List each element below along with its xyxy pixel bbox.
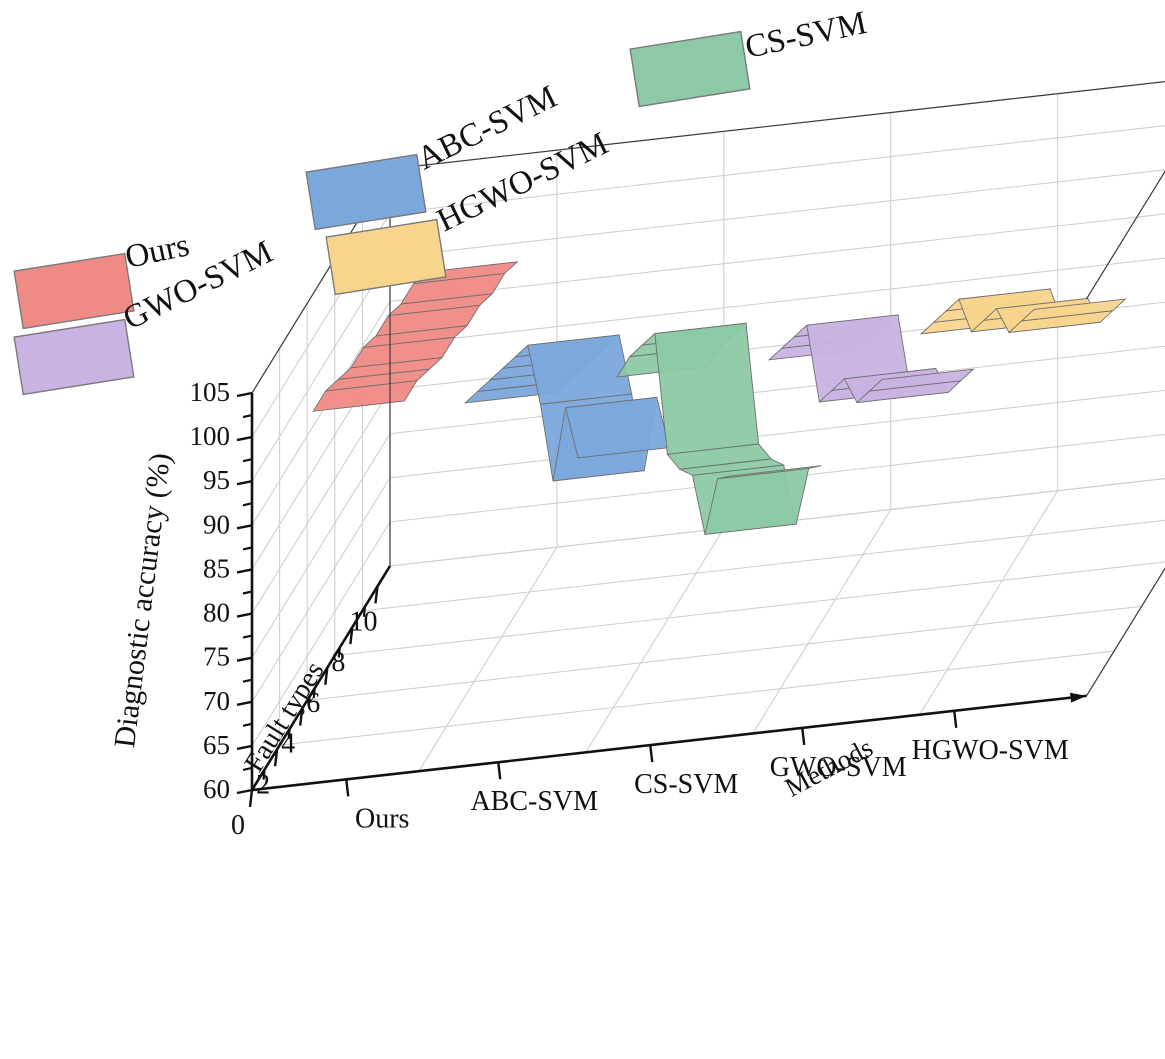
- legend-swatch: [14, 254, 134, 329]
- z-minor-tick: [243, 547, 252, 549]
- z-tick-label: 80: [203, 598, 230, 628]
- method-tick: [802, 728, 804, 745]
- z-minor-tick: [243, 724, 252, 726]
- z-tick-label: 95: [203, 465, 230, 495]
- z-tick: [237, 569, 252, 572]
- legend-label: Ours: [122, 227, 192, 276]
- z-tick-label: 65: [203, 730, 230, 760]
- ribbon-facet: [566, 397, 670, 457]
- method-tick-label: ABC-SVM: [470, 786, 598, 817]
- z-tick-label: 60: [203, 774, 230, 804]
- z-minor-tick: [243, 459, 252, 461]
- z-minor-tick: [243, 680, 252, 682]
- chart-canvas: 6065707580859095100105Diagnostic accurac…: [0, 0, 1165, 1059]
- z-tick: [237, 393, 252, 396]
- z-tick: [237, 658, 252, 661]
- ribbon-facet: [528, 335, 632, 404]
- figure-root: 6065707580859095100105Diagnostic accurac…: [0, 0, 1165, 1059]
- z-tick: [237, 790, 252, 793]
- ribbon-layer: [313, 262, 1125, 535]
- z-minor-tick: [243, 636, 252, 638]
- ribbon-hgwo-svm: [921, 289, 1125, 334]
- method-tick-label: Ours: [355, 803, 409, 834]
- method-tick-label: CS-SVM: [634, 769, 738, 800]
- z-tick-label: 70: [203, 686, 230, 716]
- legend-swatch: [14, 320, 134, 395]
- z-minor-tick: [243, 592, 252, 594]
- z-tick-label: 100: [190, 421, 231, 451]
- z-tick: [237, 481, 252, 484]
- z-tick: [237, 437, 252, 440]
- method-tick-label: HGWO-SVM: [912, 735, 1069, 766]
- fault-tick-label: 8: [331, 647, 345, 678]
- legend-item-cs-svm[interactable]: CS-SVM: [630, 5, 870, 106]
- legend-label: CS-SVM: [742, 5, 870, 66]
- z-tick-label: 105: [190, 377, 231, 407]
- method-tick: [498, 762, 500, 779]
- fault-tick: [250, 790, 252, 807]
- z-tick-label: 85: [203, 553, 230, 583]
- z-axis-title: Diagnostic accuracy (%): [108, 451, 177, 749]
- method-tick: [346, 779, 348, 796]
- z-tick-label: 90: [203, 509, 230, 539]
- ribbon-facet: [655, 323, 759, 454]
- z-tick: [237, 614, 252, 617]
- fault-tick-label: 10: [349, 606, 377, 637]
- z-minor-tick: [243, 415, 252, 417]
- legend-swatch: [306, 155, 426, 230]
- z-tick-label: 75: [203, 642, 230, 672]
- method-tick: [954, 711, 956, 728]
- z-tick: [237, 525, 252, 528]
- z-minor-tick: [243, 503, 252, 505]
- legend-swatch: [630, 32, 750, 107]
- z-tick: [237, 702, 252, 705]
- method-tick: [650, 745, 652, 762]
- fault-tick-label: 0: [231, 810, 245, 841]
